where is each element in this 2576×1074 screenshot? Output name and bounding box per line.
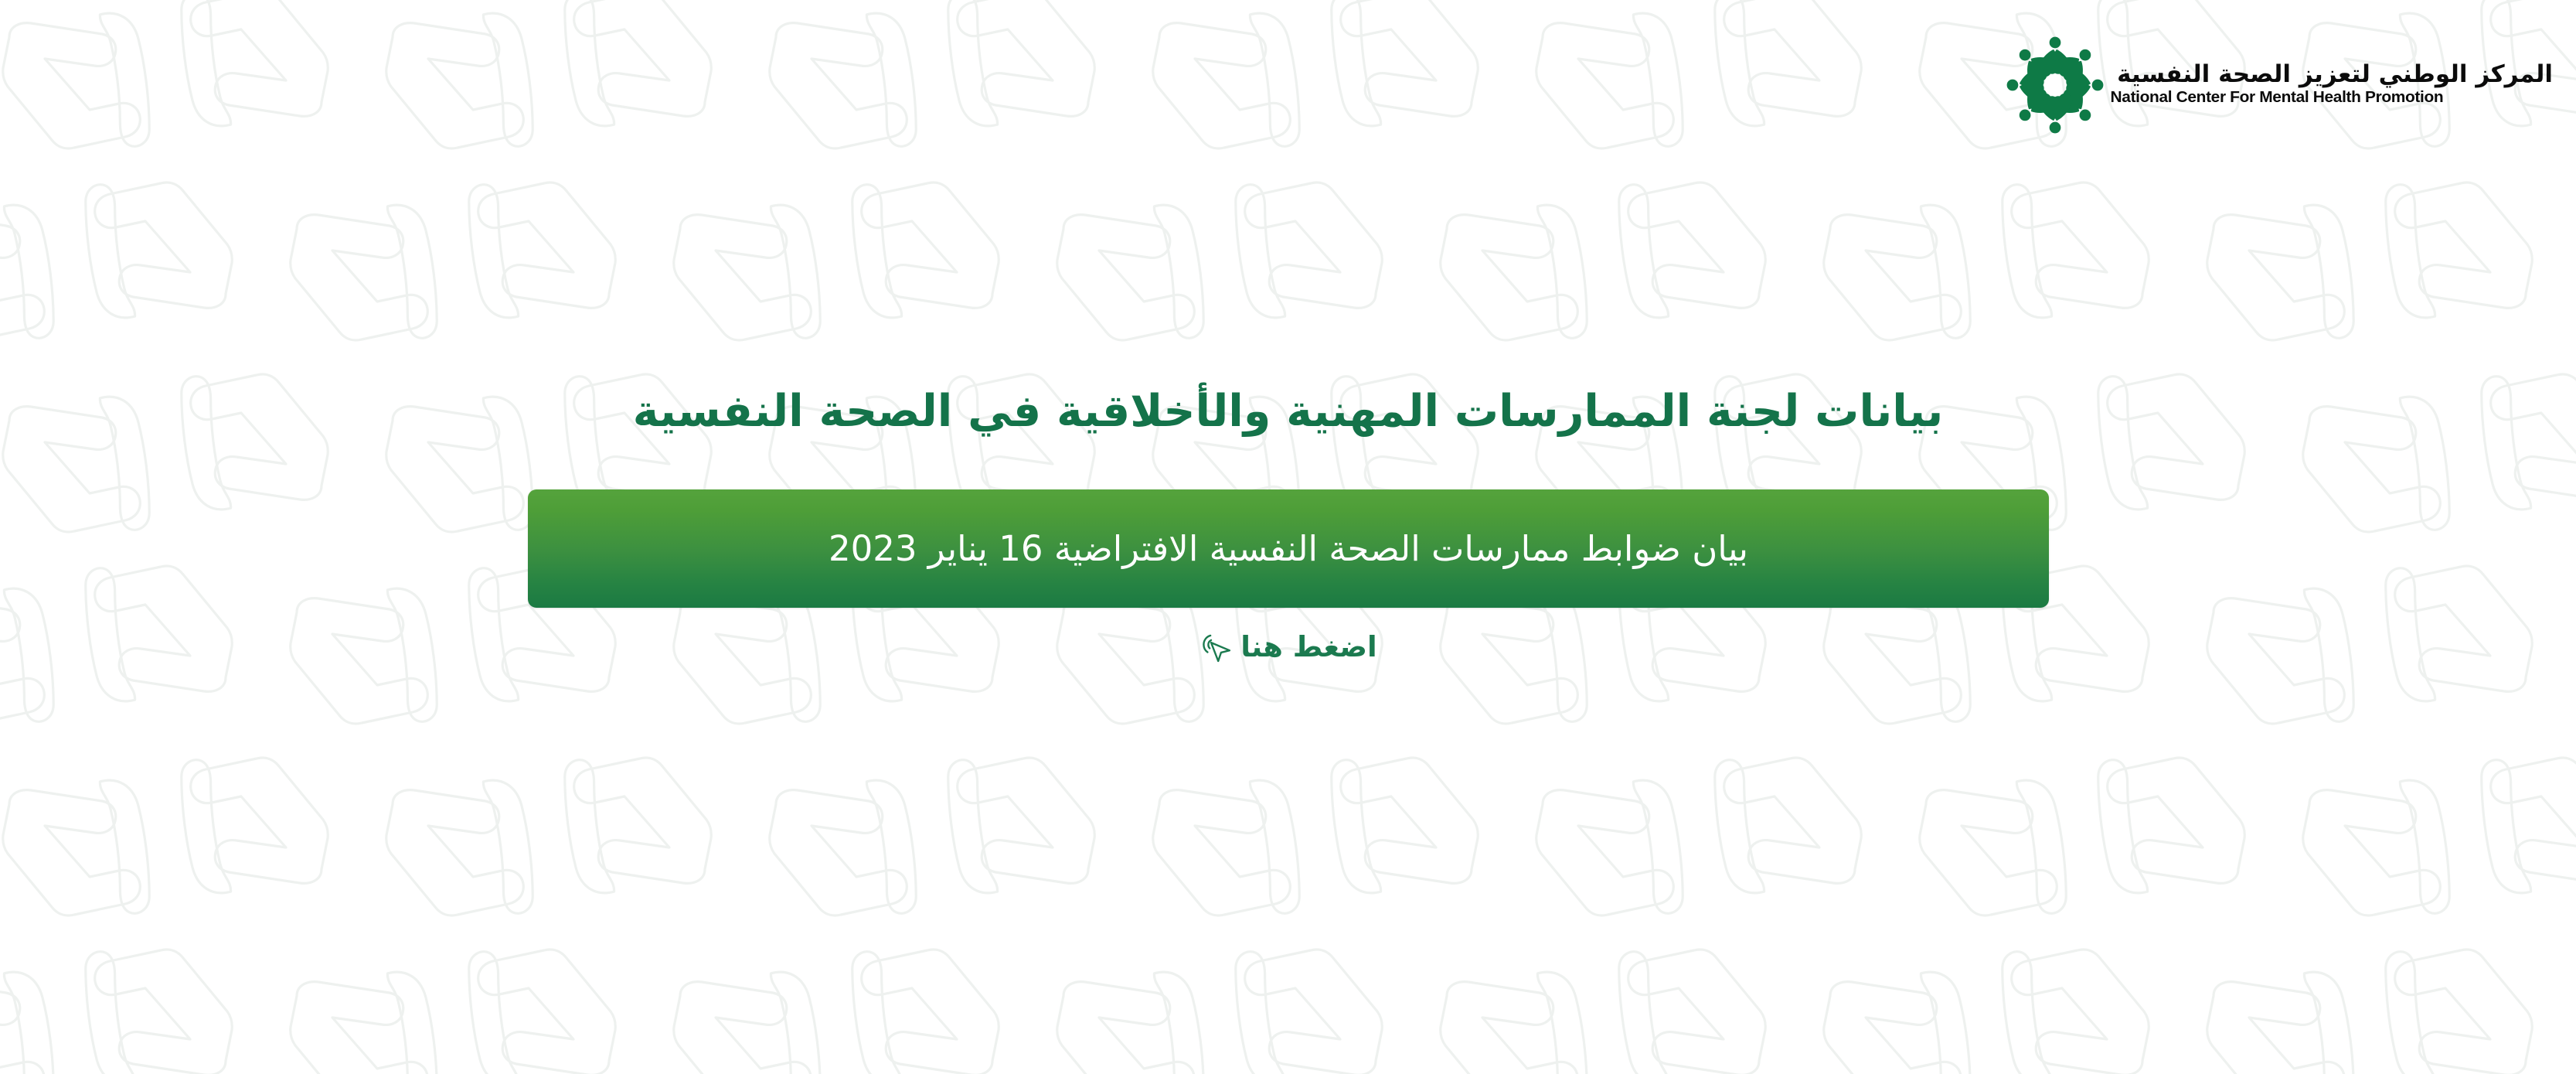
click-here-link[interactable]: اضغط هنا: [0, 628, 2576, 665]
statement-cta-label: بيان ضوابط ممارسات الصحة النفسية الافترا…: [829, 528, 1748, 569]
page-root: المركز الوطني لتعزيز الصحة النفسية Natio…: [0, 0, 2576, 1074]
click-here-label: اضغط هنا: [1240, 630, 1376, 663]
click-cursor-icon: [1199, 631, 1233, 665]
org-name-arabic: المركز الوطني لتعزيز الصحة النفسية: [2117, 63, 2553, 87]
org-name-english: National Center For Mental Health Promot…: [2111, 90, 2444, 106]
brand-logo-lockup[interactable]: المركز الوطني لتعزيز الصحة النفسية Natio…: [2006, 36, 2553, 135]
cta-container: بيان ضوابط ممارسات الصحة النفسية الافترا…: [528, 489, 2049, 608]
ncmh-logo-icon: [2006, 36, 2105, 135]
brand-logo-text: المركز الوطني لتعزيز الصحة النفسية Natio…: [2117, 63, 2553, 107]
statement-cta-button[interactable]: بيان ضوابط ممارسات الصحة النفسية الافترا…: [528, 489, 2049, 608]
page-title: بيانات لجنة الممارسات المهنية والأخلاقية…: [0, 387, 2576, 438]
